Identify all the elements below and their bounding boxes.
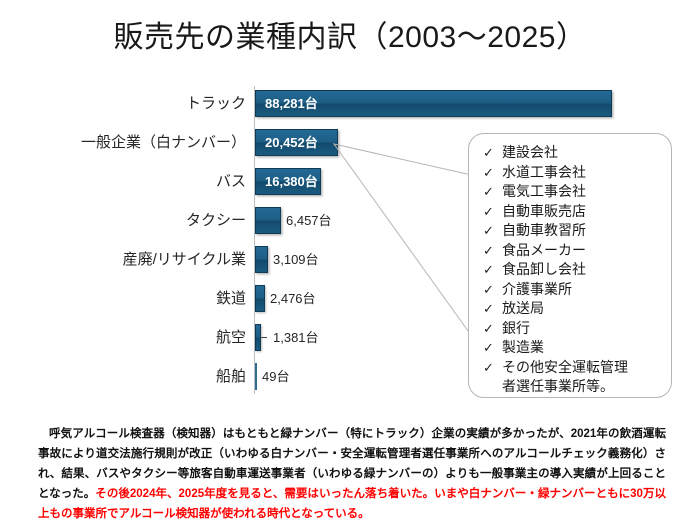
callout-list-item: ✓建設会社: [483, 143, 669, 163]
callout-list-item: ✓自動車販売店: [483, 202, 669, 222]
callout-list-item: ✓食品卸し会社: [483, 260, 669, 280]
callout-list-item: ✓銀行: [483, 319, 669, 339]
bar[interactable]: [255, 285, 265, 312]
check-icon: ✓: [483, 299, 502, 319]
check-icon: ✓: [483, 260, 502, 280]
callout-list: ✓建設会社✓水道工事会社✓電気工事会社✓自動車販売店✓自動車教習所✓食品メーカー…: [483, 143, 669, 397]
check-icon: ✓: [483, 143, 502, 163]
check-icon: ✓: [483, 241, 502, 261]
callout-list-item: ✓その他安全運転管理: [483, 358, 669, 378]
callout-item-label: 放送局: [502, 299, 669, 319]
check-icon: ✓: [483, 319, 502, 339]
page-title: 販売先の業種内訳（2003〜2025）: [0, 12, 700, 56]
bar-category-label: 産廃/リサイクル業: [0, 240, 246, 279]
bar-value-label: 16,380台: [265, 168, 318, 195]
bar-value-label: 3,109台: [273, 246, 319, 273]
bar-category-label: 一般企業（白ナンバー）: [0, 123, 246, 162]
callout-item-label: 製造業: [502, 338, 669, 358]
bar-category-label: バス: [0, 162, 246, 201]
callout-item-label-continuation: 者選任事業所等。: [483, 377, 669, 397]
value-leader-line: [260, 337, 267, 338]
bar-category-label: 航空: [0, 318, 246, 357]
bar-category-label: トラック: [0, 84, 246, 123]
check-icon: ✓: [483, 163, 502, 183]
bar-row: トラック88,281台: [0, 84, 700, 123]
callout-item-label: その他安全運転管理: [502, 358, 669, 378]
callout-list-item: ✓放送局: [483, 299, 669, 319]
bar[interactable]: [255, 363, 257, 390]
bar-value-label: 20,452台: [265, 129, 318, 156]
callout-item-label: 水道工事会社: [502, 163, 669, 183]
callout-item-label: 電気工事会社: [502, 182, 669, 202]
bar-area: 88,281台: [255, 84, 672, 123]
check-icon: ✓: [483, 202, 502, 222]
footnote-text: 呼気アルコール検査器（検知器）はもともと緑ナンバー（特にトラック）企業の実績が多…: [38, 424, 666, 524]
callout-item-label: 自動車教習所: [502, 221, 669, 241]
slide-canvas: 販売先の業種内訳（2003〜2025） トラック88,281台一般企業（白ナンバ…: [0, 0, 700, 525]
check-icon: ✓: [483, 280, 502, 300]
bar-value-label: 49台: [262, 363, 289, 390]
check-icon: ✓: [483, 182, 502, 202]
callout-item-label: 介護事業所: [502, 280, 669, 300]
bar[interactable]: [255, 207, 281, 234]
callout-list-item: ✓食品メーカー: [483, 241, 669, 261]
bar-category-label: タクシー: [0, 201, 246, 240]
bar-value-label: 88,281台: [265, 90, 318, 117]
callout-list-item: ✓製造業: [483, 338, 669, 358]
callout-box: ✓建設会社✓水道工事会社✓電気工事会社✓自動車販売店✓自動車教習所✓食品メーカー…: [468, 133, 672, 398]
callout-list-item: ✓自動車教習所: [483, 221, 669, 241]
bar-value-label: 2,476台: [270, 285, 316, 312]
bar[interactable]: [255, 246, 268, 273]
check-icon: ✓: [483, 358, 502, 378]
bar-category-label: 鉄道: [0, 279, 246, 318]
check-icon: ✓: [483, 338, 502, 358]
callout-list-item: ✓水道工事会社: [483, 163, 669, 183]
callout-list-item: ✓電気工事会社: [483, 182, 669, 202]
footnote-red: その後2024年、2025年度を見ると、需要はいったん落ち着いた。いまや白ナンバ…: [38, 488, 666, 520]
callout-list-item: ✓介護事業所: [483, 280, 669, 300]
bar-value-label: 1,381台: [273, 324, 319, 351]
bar-value-label: 6,457台: [286, 207, 332, 234]
callout-item-label: 銀行: [502, 319, 669, 339]
callout-item-label: 建設会社: [502, 143, 669, 163]
callout-item-label: 食品卸し会社: [502, 260, 669, 280]
check-icon: ✓: [483, 221, 502, 241]
callout-item-label: 自動車販売店: [502, 202, 669, 222]
callout-item-label: 食品メーカー: [502, 241, 669, 261]
bar-category-label: 船舶: [0, 357, 246, 396]
